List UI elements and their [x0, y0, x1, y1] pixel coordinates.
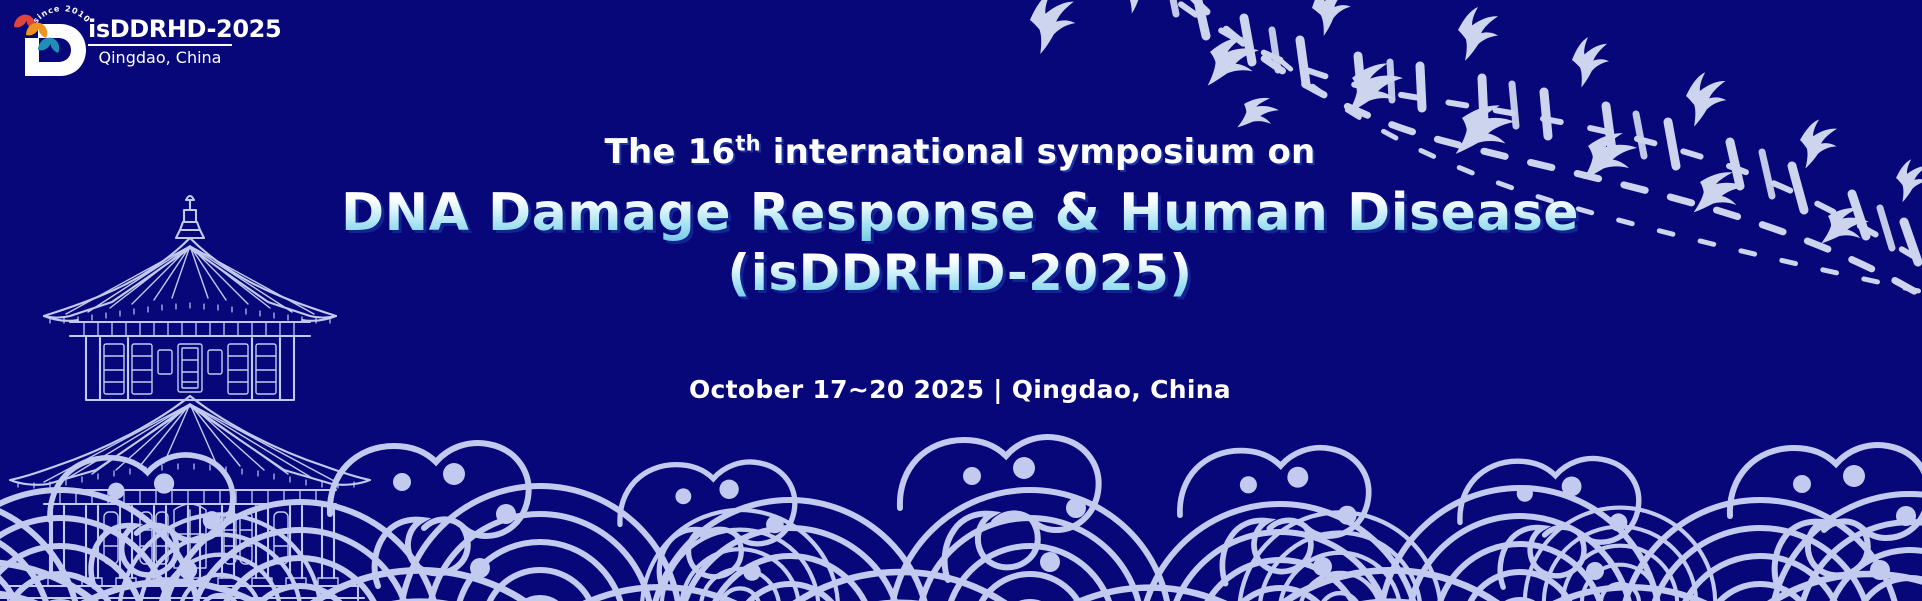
edition-suffix: international symposium on: [761, 132, 1316, 172]
logo-title: isDDRHD-2025: [88, 16, 268, 42]
symposium-edition-line: The 16th international symposium on: [330, 130, 1590, 174]
edition-prefix: The 16: [605, 132, 736, 172]
conference-banner: since 2010 isDDRHD-2025 Qingdao, China T…: [0, 0, 1922, 601]
bird-icon: [1694, 166, 1748, 221]
bird-icon: [1456, 6, 1500, 62]
logo-text-group: isDDRHD-2025 Qingdao, China: [88, 16, 268, 67]
bird-icon: [1799, 119, 1838, 169]
bird-icon: [1208, 35, 1260, 90]
bird-icon: [1348, 60, 1404, 118]
bird-icon: [1684, 70, 1730, 127]
bird-icon: [1583, 129, 1638, 187]
logo-divider: [88, 44, 232, 46]
bird-icon: [1569, 34, 1614, 88]
bird-icon: [1821, 202, 1871, 254]
bird-icon: [1307, 0, 1357, 37]
bird-icon: [1027, 0, 1081, 55]
bird-icon: [1114, 0, 1160, 15]
headline-block: The 16th international symposium on DNA …: [330, 130, 1590, 302]
conference-acronym: (isDDRHD-2025): [330, 244, 1590, 302]
logo-mark-icon: since 2010: [8, 2, 94, 84]
logo-subtitle: Qingdao, China: [88, 49, 232, 67]
svg-text:since 2010: since 2010: [31, 4, 92, 25]
edition-ordinal-suffix: th: [735, 132, 760, 156]
conference-title: DNA Damage Response & Human Disease: [330, 182, 1590, 244]
bird-icon: [1894, 158, 1922, 203]
conference-logo[interactable]: since 2010 isDDRHD-2025 Qingdao, China: [8, 2, 268, 84]
event-date-location: October 17~20 2025 | Qingdao, China: [330, 375, 1590, 404]
logo-since-text: since 2010: [31, 4, 92, 25]
